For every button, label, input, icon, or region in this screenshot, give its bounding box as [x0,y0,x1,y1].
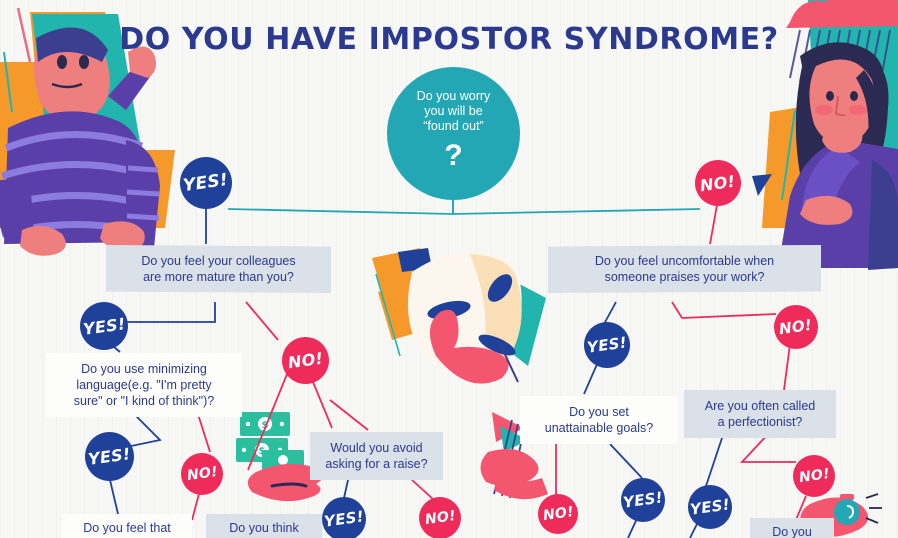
question-raise-line-2: asking for a raise? [320,456,433,472]
question-feel-that[interactable]: Do you feel that [62,514,192,538]
question-colleagues-line-2: are more mature than you? [116,269,321,285]
question-minimizing-line-3: sure" or "I kind of think")? [56,393,232,409]
question-praise[interactable]: Do you feel uncomfortable when someone p… [548,245,821,293]
question-colleagues[interactable]: Do you feel your colleagues are more mat… [106,245,331,293]
question-goals[interactable]: Do you set unattainable goals? [520,396,678,444]
badge-no-root[interactable]: NO! [695,160,741,206]
badge-yes-raise[interactable]: YES! [322,497,366,538]
root-question-bubble[interactable]: Do you worry you will be “found out” ? [387,67,520,200]
question-raise[interactable]: Would you avoid asking for a raise? [310,432,443,480]
badge-no-praise[interactable]: NO! [774,305,818,349]
question-perfectionist-line-1: Are you often called [694,398,826,414]
question-praise-line-2: someone praises your work? [558,269,811,285]
question-feel-that-line-1: Do you feel that [72,520,182,536]
question-perfectionist[interactable]: Are you often called a perfectionist? [684,390,836,438]
root-question-mark: ? [444,141,462,171]
badge-yes-goals[interactable]: YES! [621,478,665,522]
badge-no-perfectionist[interactable]: NO! [793,455,835,497]
question-do-you[interactable]: Do you [750,518,834,538]
badge-no-minimizing[interactable]: NO! [181,453,223,495]
question-do-you-line-1: Do you [760,524,824,538]
question-think[interactable]: Do you think [206,514,322,538]
question-think-line-1: Do you think [216,520,312,536]
question-goals-line-2: unattainable goals? [530,420,668,436]
badge-no-colleagues[interactable]: NO! [282,337,329,384]
badge-yes-praise[interactable]: YES! [584,322,630,368]
question-raise-line-1: Would you avoid [320,440,433,456]
content-layer: DO YOU HAVE IMPOSTOR SYNDROME? Do you wo… [0,0,898,538]
infographic-canvas: $ $ [0,0,898,538]
badge-yes-minimizing[interactable]: YES! [85,432,134,481]
badge-yes-root[interactable]: YES! [180,157,232,209]
root-question-line-3: “found out” [417,119,491,134]
question-goals-line-1: Do you set [530,404,668,420]
root-question-line-1: Do you worry [417,89,491,104]
badge-no-goals[interactable]: NO! [538,494,578,534]
badge-no-raise[interactable]: NO! [419,497,461,538]
question-perfectionist-line-2: a perfectionist? [694,414,826,430]
question-minimizing[interactable]: Do you use minimizing language(e.g. "I'm… [46,353,242,417]
badge-yes-perfectionist[interactable]: YES! [688,485,732,529]
root-question-line-2: you will be [417,104,491,119]
page-title: DO YOU HAVE IMPOSTOR SYNDROME? [0,22,898,57]
question-colleagues-line-1: Do you feel your colleagues [116,253,321,269]
question-praise-line-1: Do you feel uncomfortable when [558,253,811,269]
badge-yes-colleagues[interactable]: YES! [80,302,128,350]
question-minimizing-line-1: Do you use minimizing [56,361,232,377]
question-minimizing-line-2: language(e.g. "I'm pretty [56,377,232,393]
